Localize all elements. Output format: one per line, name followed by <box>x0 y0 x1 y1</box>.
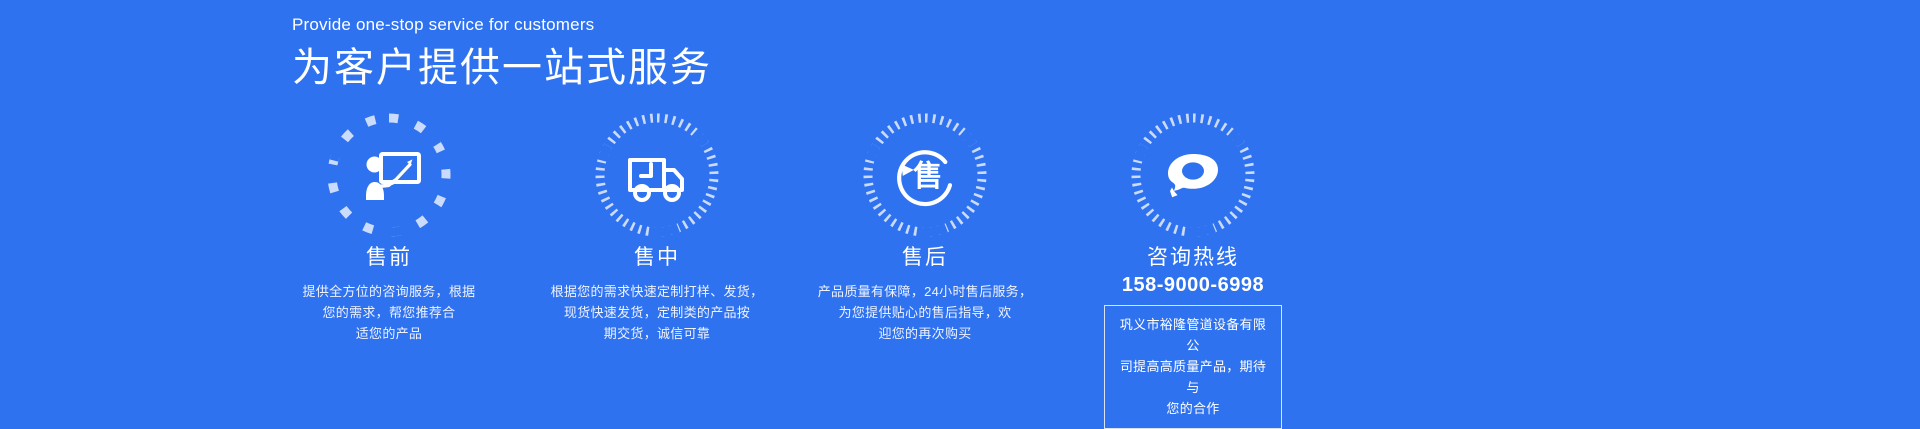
return-arrow-sale-icon: 售 <box>888 138 962 212</box>
aftersale-desc-line: 产品质量有保障，24小时售后服务， <box>818 281 1033 302</box>
banner-heading: Provide one-stop service for customers 为… <box>292 14 1192 92</box>
presale-title: 售前 <box>366 244 412 271</box>
telephone-icon <box>1156 138 1230 212</box>
hotline-icon-wrap <box>1130 112 1256 238</box>
presale-desc-line: 您的需求，帮您推荐合 <box>303 302 476 323</box>
company-statement-line: 您的合作 <box>1117 398 1269 419</box>
banner-subtitle-en: Provide one-stop service for customers <box>292 14 1192 35</box>
banner-title-cn: 为客户提供一站式服务 <box>292 44 1192 92</box>
aftersale-icon-wrap: 售 <box>862 112 988 238</box>
svg-text:售: 售 <box>913 160 943 193</box>
service-banner: Provide one-stop service for customers 为… <box>0 0 1920 413</box>
company-statement-line: 巩义市裕隆管道设备有限公 <box>1117 314 1269 356</box>
presale-desc-line: 提供全方位的咨询服务，根据 <box>303 281 476 302</box>
company-statement-line: 司提高高质量产品，期待与 <box>1117 356 1269 398</box>
insale-icon-wrap <box>594 112 720 238</box>
presale-description: 提供全方位的咨询服务，根据 您的需求，帮您推荐合 适您的产品 <box>303 281 476 344</box>
insale-desc-line: 期交货，诚信可靠 <box>551 323 764 344</box>
aftersale-desc-line: 为您提供贴心的售后指导，欢 <box>818 302 1033 323</box>
hotline-title: 咨询热线 <box>1147 244 1239 271</box>
service-column-presale[interactable]: 售前 提供全方位的咨询服务，根据 您的需求，帮您推荐合 适您的产品 <box>255 112 523 429</box>
hotline-phone-number[interactable]: 158-9000-6998 <box>1122 273 1264 298</box>
service-column-insale[interactable]: 售中 根据您的需求快速定制打样、发货， 现货快速发货，定制类的产品按 期交货，诚… <box>523 112 791 429</box>
presale-icon-wrap <box>326 112 452 238</box>
service-column-aftersale[interactable]: 售 售后 产品质量有保障，24小时售后服务， 为您提供贴心的售后指导，欢 迎您的… <box>791 112 1059 429</box>
insale-desc-line: 现货快速发货，定制类的产品按 <box>551 302 764 323</box>
delivery-truck-clock-icon <box>620 138 694 212</box>
insale-title: 售中 <box>634 244 680 271</box>
aftersale-desc-line: 迎您的再次购买 <box>818 323 1033 344</box>
aftersale-title: 售后 <box>902 244 948 271</box>
service-column-hotline[interactable]: 咨询热线 158-9000-6998 巩义市裕隆管道设备有限公 司提高高质量产品… <box>1059 112 1327 429</box>
aftersale-description: 产品质量有保障，24小时售后服务， 为您提供贴心的售后指导，欢 迎您的再次购买 <box>818 281 1033 344</box>
presale-desc-line: 适您的产品 <box>303 323 476 344</box>
service-columns: 售前 提供全方位的咨询服务，根据 您的需求，帮您推荐合 适您的产品 <box>255 112 1525 429</box>
insale-desc-line: 根据您的需求快速定制打样、发货， <box>551 281 764 302</box>
company-statement-box: 巩义市裕隆管道设备有限公 司提高高质量产品，期待与 您的合作 <box>1104 305 1282 429</box>
insale-description: 根据您的需求快速定制打样、发货， 现货快速发货，定制类的产品按 期交货，诚信可靠 <box>551 281 764 344</box>
presenter-whiteboard-icon <box>352 138 426 212</box>
